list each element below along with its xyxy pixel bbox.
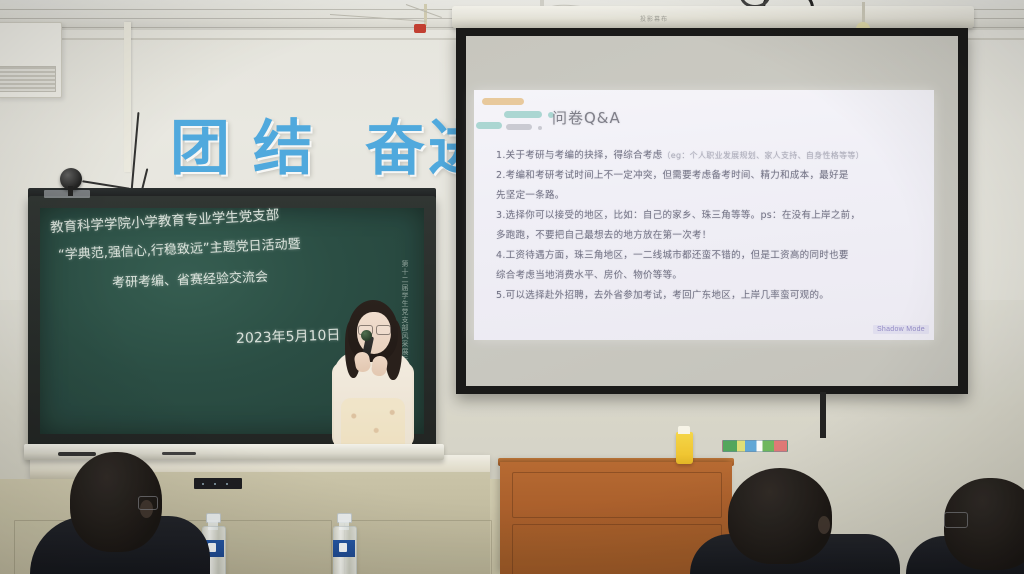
chalk-tray-slot: [162, 452, 196, 455]
deco-bar-orange: [482, 98, 524, 105]
camera-stalk: [68, 186, 73, 196]
presentation-slide: 问卷Q&A 1.关于考研与考编的抉择，得综合考虑（eg：个人职业发展规划、家人支…: [474, 90, 934, 340]
yellow-bottle-cap: [678, 426, 690, 434]
blackboard-date: 2023年5月10日: [236, 324, 341, 348]
blackboard-line-3: 考研考编、省赛经验交流会: [112, 266, 269, 291]
slide-line: 5.可以选择赴外招聘，去外省参加考试，考回广东地区，上岸几率蛮可观的。: [496, 286, 920, 306]
red-tag: [414, 24, 426, 33]
slide-line-note: （eg：个人职业发展规划、家人支持、自身性格等等）: [662, 151, 864, 160]
podium-panel: [512, 472, 722, 518]
blackboard-brand-logo: [44, 190, 90, 198]
classroom-photo: 团 结 奋 进 教育科学学院小学教育专业学生党支部 “学典范,强信心,行稳致远”…: [0, 0, 1024, 574]
screen-hook: [862, 2, 865, 24]
slide-line: 先坚定一条路。: [496, 186, 920, 206]
blackboard-line-1: 教育科学学院小学教育专业学生党支部: [49, 203, 279, 236]
banner-char-4: 进: [428, 100, 456, 187]
slide-body: 1.关于考研与考编的抉择，得综合考虑（eg：个人职业发展规划、家人支持、自身性格…: [496, 146, 920, 306]
slide-title: 问卷Q&A: [552, 107, 621, 128]
banner-char-2: 结: [253, 100, 313, 187]
roller-label: 投影幕布: [640, 14, 668, 23]
deco-bar-teal-2: [476, 122, 502, 129]
cabinet-door[interactable]: [344, 520, 492, 574]
deco-bar-gray: [506, 124, 532, 130]
shadow-mode-watermark: Shadow Mode: [873, 325, 929, 334]
banner-char-3: 奋: [365, 100, 425, 187]
screen-support-leg: [820, 392, 826, 438]
vent-grill: [0, 66, 56, 92]
yellow-bottle: [676, 432, 693, 464]
slide-line: 4.工资待遇方面，珠三角地区，一二线城市都还蛮不错的，但是工资高的同时也要: [496, 246, 920, 266]
deco-bar-teal-1: [504, 111, 542, 118]
slide-line: 3.选择你可以接受的地区，比如：自己的家乡、珠三角等等。ps：在没有上岸之前，: [496, 206, 920, 226]
chalk-tray-slot: [58, 452, 96, 456]
banner-char-1: 团: [170, 100, 230, 187]
ceiling-hook: [424, 4, 427, 26]
slide-line-text: 1.关于考研与考编的抉择，得综合考虑: [496, 150, 662, 161]
slide-line: 1.关于考研与考编的抉择，得综合考虑（eg：个人职业发展规划、家人支持、自身性格…: [496, 146, 920, 166]
screen-roller-housing: [452, 6, 974, 28]
slide-line: 多跑跑，不要把自己最想去的地方放在第一次考！: [496, 226, 920, 246]
blackboard-line-2: “学典范,强信心,行稳致远”主题党日活动暨: [58, 233, 301, 263]
deco-dot-gray: [538, 126, 542, 130]
cable-conduit: [124, 22, 131, 172]
slide-line: 综合考虑当地消费水平、房价、物价等等。: [496, 266, 920, 286]
microphone-head-icon: [361, 330, 372, 341]
sticker-strip: [722, 440, 788, 452]
slide-line: 2.考编和考研考试时间上不一定冲突，但需要考虑备考时间、精力和成本，最好是: [496, 166, 920, 186]
